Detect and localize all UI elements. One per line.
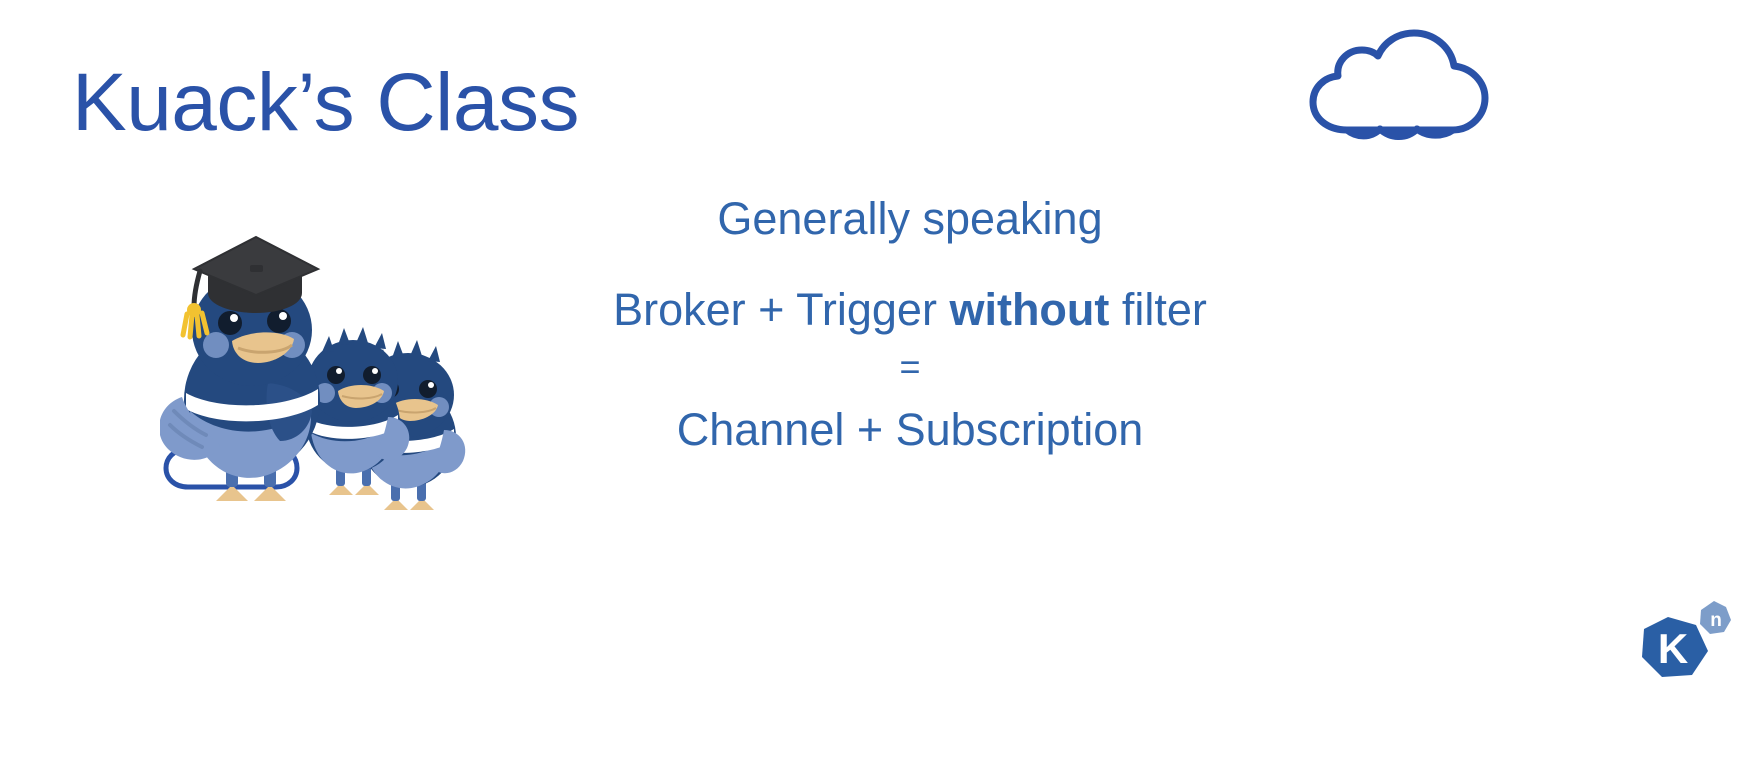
equals-sign: = [530, 349, 1290, 385]
body-line-generally-speaking: Generally speaking [530, 196, 1290, 242]
body-text-block: Generally speaking Broker + Trigger with… [530, 196, 1290, 453]
cloud-outline-icon [1305, 26, 1495, 146]
body-line2-suffix: filter [1109, 284, 1207, 335]
body-line-channel-subscription: Channel + Subscription [530, 407, 1290, 453]
knative-logo-letter-k: K [1658, 625, 1688, 672]
teacher-bird-with-chicks-illustration [160, 215, 505, 520]
knative-logo-letter-n: n [1710, 610, 1722, 631]
body-line-broker-trigger: Broker + Trigger without filter [530, 287, 1290, 333]
knative-logo: K n [1630, 595, 1738, 690]
body-line2-bold-without: without [949, 284, 1109, 335]
slide-canvas: Kuack’s Class [0, 0, 1742, 762]
body-line2-prefix: Broker + Trigger [613, 284, 949, 335]
page-title: Kuack’s Class [72, 62, 579, 144]
